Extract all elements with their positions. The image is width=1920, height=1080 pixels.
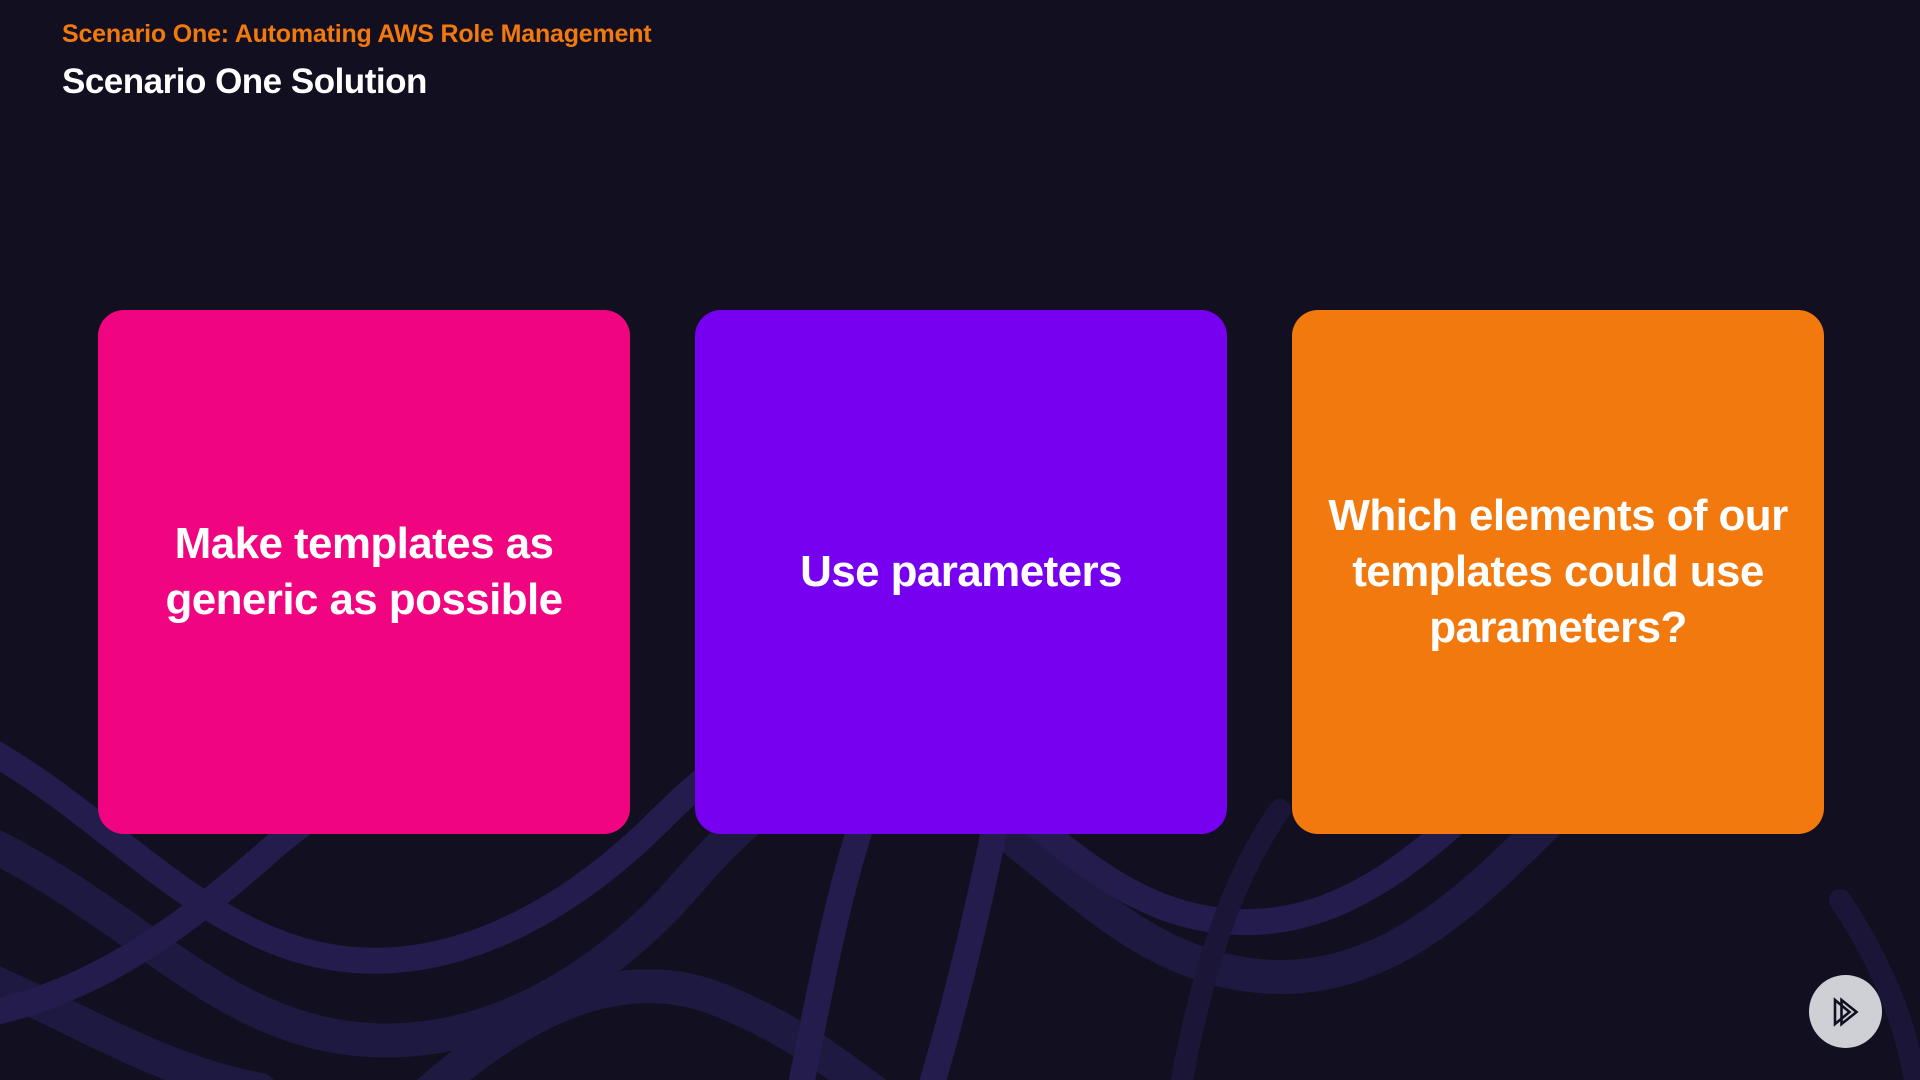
slide-eyebrow: Scenario One: Automating AWS Role Manage… [62,18,651,51]
slide-header: Scenario One: Automating AWS Role Manage… [62,18,651,105]
card-row: Make templates as generic as possible Us… [98,310,1824,834]
card-label: Which elements of our templates could us… [1326,488,1790,656]
card-use-parameters[interactable]: Use parameters [695,310,1227,834]
pluralsight-logo-badge [1809,975,1882,1048]
card-make-templates-generic[interactable]: Make templates as generic as possible [98,310,630,834]
play-triangle-icon [1826,992,1866,1032]
slide-canvas: Scenario One: Automating AWS Role Manage… [0,0,1920,1080]
card-which-elements-question[interactable]: Which elements of our templates could us… [1292,310,1824,834]
card-label: Make templates as generic as possible [132,516,596,628]
card-label: Use parameters [800,544,1122,600]
page-title: Scenario One Solution [62,59,651,105]
